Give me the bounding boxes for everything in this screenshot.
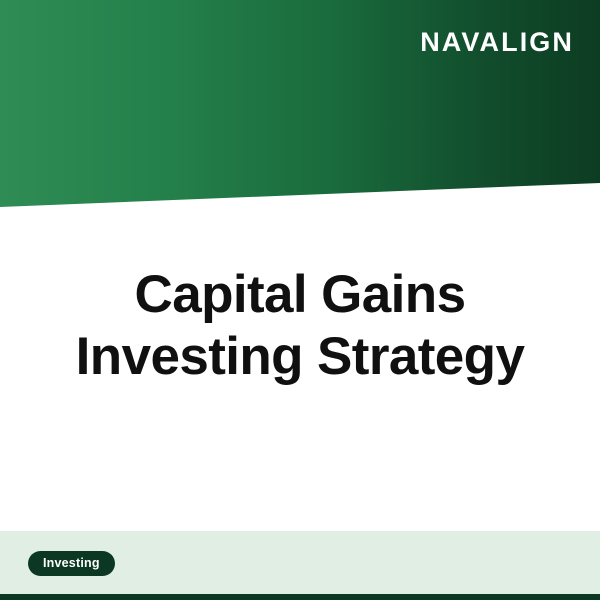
bottom-accent-rule xyxy=(0,594,600,600)
status-badge[interactable]: Investing xyxy=(28,551,115,576)
slide-body: Capital Gains Investing Strategy xyxy=(0,212,600,531)
header-banner: NAVALIGN xyxy=(0,0,600,212)
title-line-1: Capital Gains xyxy=(50,264,550,326)
navalign-logo: NAVALIGN xyxy=(420,29,574,56)
footer-band: Investing xyxy=(0,531,600,594)
title-line-2: Investing Strategy xyxy=(50,326,550,388)
page-title: Capital Gains Investing Strategy xyxy=(50,264,550,388)
presentation-slide: NAVALIGN Capital Gains Investing Strateg… xyxy=(0,0,600,600)
